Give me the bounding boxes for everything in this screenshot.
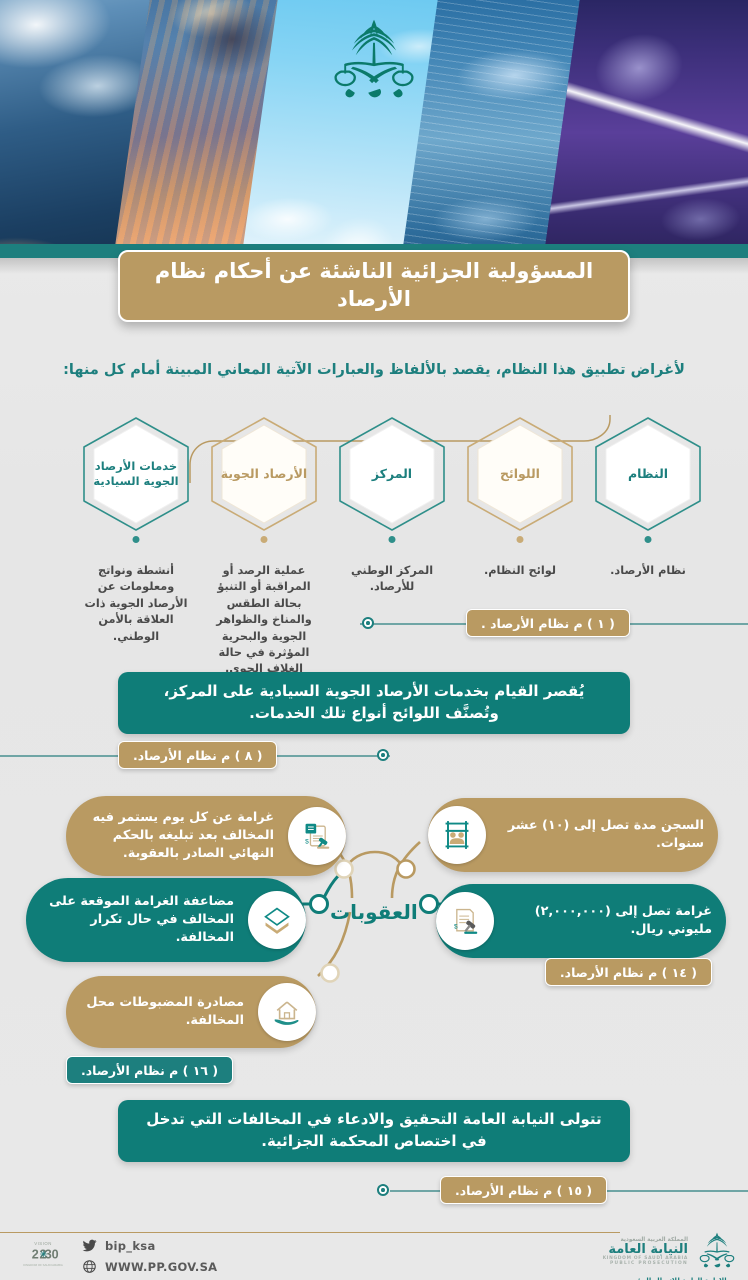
svg-text:KINGDOM OF SAUDI ARABIA: KINGDOM OF SAUDI ARABIA: [23, 1263, 63, 1267]
twitter-icon: [82, 1238, 97, 1253]
connector-dot: [133, 536, 140, 543]
reference-badge-art8: ( ٨ ) م نظام الأرصاد.: [118, 741, 277, 769]
calendar-document-gavel-icon: $: [288, 807, 346, 865]
reference-badge-art14: ( ١٤ ) م نظام الأرصاد.: [545, 958, 712, 986]
footer: VISION 2 ​ 2 30 KINGDOM OF SAUDI ARABIA …: [0, 1226, 748, 1280]
vision-2030-logo: VISION 2 ​ 2 30 KINGDOM OF SAUDI ARABIA: [14, 1236, 72, 1272]
page-title: المسؤولية الجزائية الناشئة عن أحكام نظام…: [118, 250, 630, 322]
connector-dot: [645, 536, 652, 543]
page-title-text: المسؤولية الجزائية الناشئة عن أحكام نظام…: [120, 258, 628, 313]
pp-emblem-icon: [694, 1230, 740, 1274]
penalty-text: مضاعفة الغرامة الموقعة على المخالف في حا…: [26, 893, 248, 947]
ref-dot-art15: [377, 1184, 389, 1196]
definition-item-lawaih: اللوائح لوائح النظام.: [452, 415, 588, 579]
definitions-row: النظام نظام الأرصاد. اللوائح لوائح النظا…: [0, 415, 748, 665]
header-banner: [0, 0, 748, 258]
definition-item-khadamat-siyadiya: خدمات الأرصاد الجوية السيادية أنشطة ونوا…: [68, 415, 204, 645]
reference-badge-art16: ( ١٦ ) م نظام الأرصاد.: [66, 1056, 233, 1084]
globe-icon: [82, 1259, 97, 1274]
infographic-page: المسؤولية الجزائية الناشئة عن أحكام نظام…: [0, 0, 748, 1280]
prison-bars-icon: [428, 806, 486, 864]
definition-description: المركز الوطني للأرصاد.: [324, 563, 460, 596]
definition-item-nizam: النظام نظام الأرصاد.: [580, 415, 716, 579]
definition-term: اللوائح: [452, 423, 588, 525]
svg-text:$: $: [305, 838, 309, 845]
public-prosecution-logo: المملكة العربية السعودية النيابة العامة …: [603, 1230, 740, 1280]
website-url: WWW.PP.GOV.SA: [105, 1260, 217, 1274]
penalty-pod-double-fine: مضاعفة الغرامة الموقعة على المخالف في حا…: [26, 878, 306, 962]
definition-term: المركز: [324, 423, 460, 525]
statement-banner-art15: تتولى النيابة العامة التحقيق والادعاء في…: [118, 1100, 630, 1162]
reference-badge-art1: ( ١ ) م نظام الأرصاد .: [466, 609, 630, 637]
connector-dot: [261, 536, 268, 543]
penalty-text: السجن مدة تصل إلى (١٠) عشر سنوات.: [486, 817, 718, 853]
penalty-pod-fine-2m: $ غرامة تصل إلى (٢,٠٠٠,٠٠٠) مليوني ريال.: [436, 884, 726, 958]
ref-dot-art1: [362, 617, 374, 629]
penalty-pod-confiscation: مصادرة المضبوطات محل المخالفة.: [66, 976, 316, 1048]
reference-badge-art15: ( ١٥ ) م نظام الأرصاد.: [440, 1176, 607, 1204]
definition-term: خدمات الأرصاد الجوية السيادية: [68, 423, 204, 525]
svg-text:2: 2: [32, 1247, 39, 1261]
document-gavel-icon: $: [436, 892, 494, 950]
definition-term: النظام: [580, 423, 716, 525]
statement-banner-art8: يُقصر القيام بخدمات الأرصاد الجوية السيا…: [118, 672, 630, 734]
penalties-center-label: العقوبات: [330, 900, 418, 924]
connector-dot: [389, 536, 396, 543]
house-on-hand-icon: [258, 983, 316, 1041]
ref-dot-art8: [377, 749, 389, 761]
connector-dot: [517, 536, 524, 543]
saudi-emblem-icon: [326, 14, 422, 110]
svg-text:VISION: VISION: [34, 1241, 52, 1246]
definition-description: لوائح النظام.: [452, 563, 588, 579]
svg-text:30: 30: [45, 1247, 59, 1261]
penalty-pod-prison: السجن مدة تصل إلى (١٠) عشر سنوات.: [428, 798, 718, 872]
definition-term: الأرصاد الجوية: [196, 423, 332, 525]
intro-text: لأغراض تطبيق هذا النظام، يقصد بالألفاظ و…: [0, 362, 748, 378]
twitter-handle: bip_ksa: [105, 1239, 156, 1253]
stacked-layers-icon: [248, 891, 306, 949]
website-row[interactable]: WWW.PP.GOV.SA: [82, 1259, 217, 1274]
definition-item-arsad-jawiya: الأرصاد الجوية عملية الرصد أو المراقبة أ…: [196, 415, 332, 678]
penalty-text: غرامة تصل إلى (٢,٠٠٠,٠٠٠) مليوني ريال.: [494, 903, 726, 939]
definition-description: نظام الأرصاد.: [580, 563, 716, 579]
org-name-en: PUBLIC PROSECUTION: [603, 1262, 688, 1267]
social-links: bip_ksa WWW.PP.GOV.SA: [82, 1238, 217, 1280]
penalty-text: غرامة عن كل يوم يستمر فيه المخالف بعد تب…: [66, 809, 288, 863]
definition-description: أنشطة ونواتج ومعلومات عن الأرصاد الجوية …: [68, 563, 204, 645]
penalty-text: مصادرة المضبوطات محل المخالفة.: [66, 994, 258, 1030]
svg-text:$: $: [454, 923, 458, 930]
definition-item-markaz: المركز المركز الوطني للأرصاد.: [324, 415, 460, 596]
definition-description: عملية الرصد أو المراقبة أو التنبؤ بحالة …: [196, 563, 332, 678]
twitter-row[interactable]: bip_ksa: [82, 1238, 217, 1253]
penalty-pod-daily-fine: $ غرامة عن كل يوم يستمر فيه المخالف بعد …: [66, 796, 346, 876]
